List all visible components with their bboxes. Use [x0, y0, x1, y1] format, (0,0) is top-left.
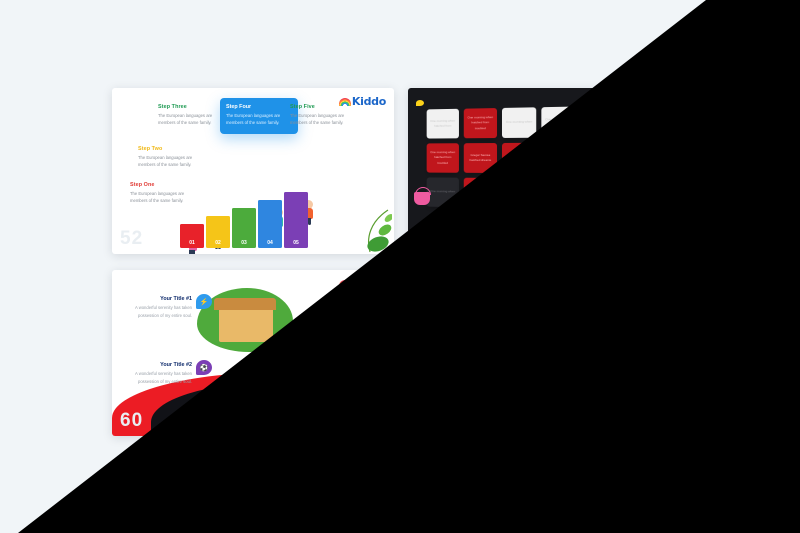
leaf-icon	[358, 208, 392, 254]
step-bars: 01 02 03 04 05	[180, 192, 308, 248]
slide-puzzle-stats[interactable]: Kiddo 30% Your Text A wonderful serenity…	[408, 270, 690, 436]
step-body: The European languages are members of th…	[138, 154, 204, 169]
step-body: The European languages are members of th…	[290, 112, 356, 127]
bar-label: 04	[267, 240, 273, 246]
matrix-cell[interactable]: One morning when	[502, 107, 536, 138]
matrix-cell[interactable]: One morning when hatched from troubled	[464, 178, 497, 208]
matrix-cell[interactable]: One morning dreams	[502, 143, 536, 173]
bar-label: 01	[189, 240, 195, 246]
slide-grid: Kiddo Step Three The European languages …	[112, 88, 690, 436]
kiddo-logo: Kiddo	[339, 277, 386, 290]
yellow-dot-decoration	[416, 100, 424, 106]
stat-label: Your Text	[619, 320, 640, 325]
sand-bucket-icon	[414, 192, 430, 205]
logo-text: Kiddo	[648, 95, 682, 108]
step-title: Step Two	[138, 146, 204, 152]
kiddo-logo: Kiddo	[339, 95, 386, 108]
step-title: Step One	[130, 182, 196, 188]
stat-body: A wonderful serenity has taken possessio…	[444, 295, 526, 310]
matrix-cell[interactable]: One morning when	[541, 178, 576, 209]
stat-body: A wonderful serenity has taken possessio…	[600, 329, 680, 344]
stat-label: Your Text	[553, 280, 574, 285]
feature-block-1: Your Title #1 A wonderful serenity has t…	[120, 296, 192, 319]
step-bar[interactable]: 04	[258, 200, 282, 248]
feature-title: Your Title #3	[310, 336, 382, 342]
blue-circle-decoration	[627, 118, 636, 127]
step-bar[interactable]: 01	[180, 224, 204, 248]
stat-label: Your Text	[463, 286, 484, 291]
matrix-cell[interactable]: One morning when hatched from	[427, 109, 459, 139]
rainbow-icon	[339, 98, 351, 106]
step-block-three: Step Three The European languages are me…	[158, 104, 224, 127]
treehouse-roof	[214, 298, 276, 310]
connector-line-2	[520, 286, 535, 331]
matrix-grid: One morning when hatched from One mornin…	[427, 107, 577, 210]
stat-percent: 30%	[534, 278, 549, 286]
matrix-cell[interactable]: One morning when hatched from troubled	[464, 108, 497, 138]
slide-number: 52	[120, 228, 143, 250]
slide-number: 60	[120, 410, 143, 432]
stat-block-2: 30% Your Text A wonderful serenity has t…	[534, 278, 616, 304]
slide-step-process[interactable]: Kiddo Step Three The European languages …	[112, 88, 394, 254]
slide-treehouse[interactable]: Kiddo Your Title #1 A wonderful serenity…	[112, 270, 394, 436]
matrix-title-line2: Diagram	[568, 160, 672, 176]
matrix-cell[interactable]: One morning when	[427, 177, 459, 207]
feature-title: Your Title #1	[120, 296, 192, 302]
kiddo-logo: Kiddo	[635, 277, 682, 290]
stat-block-3: 30% Your Text A wonderful serenity has t…	[600, 318, 680, 344]
feature-block-3: Your Title #3 A wonderful serenity has t…	[310, 336, 382, 359]
feature-body: A wonderful serenity has taken possessio…	[120, 370, 192, 385]
grass-ground	[219, 410, 297, 430]
matrix-cell[interactable]: Gregor Samsa hatched dreams	[464, 143, 497, 173]
stat-block-1: 30% Your Text A wonderful serenity has t…	[444, 284, 526, 310]
stat-percent: 30%	[444, 284, 459, 292]
logo-text: Kiddo	[648, 277, 682, 290]
screenshot-canvas: Kiddo Step Three The European languages …	[0, 0, 800, 533]
ball-icon[interactable]: ⚽	[196, 360, 212, 375]
step-title: Step Three	[158, 104, 224, 110]
treehouse	[219, 306, 273, 342]
logo-text: Kiddo	[352, 95, 386, 108]
puzzle-graphic[interactable]	[486, 334, 594, 412]
rocket-icon[interactable]: 🚀	[288, 328, 304, 343]
step-body: The European languages are members of th…	[158, 112, 224, 127]
matrix-title: Matrix Diagram	[568, 144, 672, 177]
leaf-icon	[660, 212, 688, 250]
slide-matrix-diagram[interactable]: One morning when hatched from One mornin…	[408, 88, 690, 254]
feature-block-2: Your Title #2 A wonderful serenity has t…	[120, 362, 192, 385]
feature-body: A wonderful serenity has taken possessio…	[120, 304, 192, 319]
matrix-cell[interactable]: One morning when hatched from troubled	[427, 143, 459, 173]
kiddo-logo: Kiddo	[635, 95, 682, 108]
boy-figure	[654, 387, 674, 426]
step-bar[interactable]: 02	[206, 216, 230, 248]
rainbow-icon	[339, 280, 351, 288]
slide-number: 61	[416, 410, 439, 432]
bar-label: 03	[241, 240, 247, 246]
logo-text: Kiddo	[352, 277, 386, 290]
matrix-cell[interactable]: One morning when	[502, 178, 536, 209]
connector-line-1	[430, 290, 445, 344]
rainbow-icon	[635, 280, 647, 288]
horse-illustration	[502, 344, 578, 402]
rainbow-icon	[635, 98, 647, 106]
bar-label: 02	[215, 240, 221, 246]
stat-percent: 30%	[600, 318, 615, 326]
step-block-four[interactable]: Step Four The European languages are mem…	[220, 98, 298, 134]
bar-label: 05	[293, 240, 299, 246]
step-body: The European languages are members of th…	[226, 112, 292, 127]
matrix-title-line1: Matrix	[568, 144, 672, 160]
feature-body: A wonderful serenity has taken possessio…	[310, 344, 382, 359]
step-block-two: Step Two The European languages are memb…	[138, 146, 204, 169]
stat-body: A wonderful serenity has taken possessio…	[534, 289, 616, 304]
squiggle-decoration	[536, 241, 554, 251]
matrix-cell[interactable]: One morning when hatched from	[541, 107, 576, 138]
step-bar[interactable]: 05	[284, 192, 308, 248]
feature-title: Your Title #2	[120, 362, 192, 368]
step-bar[interactable]: 03	[232, 208, 256, 248]
bulb-icon[interactable]: ⚡	[196, 294, 212, 309]
step-title: Step Four	[226, 104, 292, 110]
